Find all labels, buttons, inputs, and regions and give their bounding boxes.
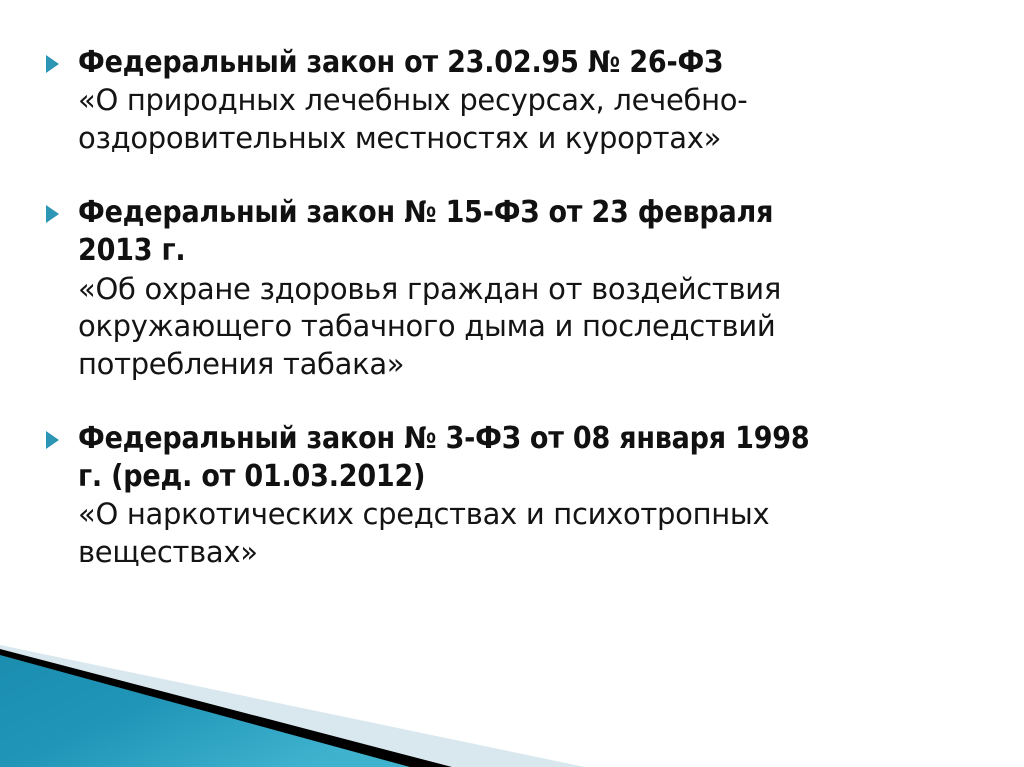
law-title-line: «О наркотических средствах и психотропны…	[78, 496, 984, 534]
law-title-line: оздоровительных местностях и курортах»	[78, 120, 984, 158]
black-band	[0, 649, 452, 767]
law-title-line: веществах»	[78, 534, 984, 572]
list-item: Федеральный закон № 15-ФЗ от 23 февраля …	[40, 194, 984, 384]
teal-band	[0, 655, 410, 767]
law-title-line: окружающего табачного дыма и последствий	[78, 308, 984, 346]
triangle-right-bullet-icon	[46, 55, 59, 73]
law-title-line: «Об охране здоровья граждан от воздейств…	[78, 271, 984, 309]
list-item: Федеральный закон от 23.02.95 № 26-ФЗ «О…	[40, 44, 984, 158]
law-heading-line: 2013 г.	[78, 232, 984, 270]
light-blue-band	[0, 645, 585, 767]
law-heading: Федеральный закон от 23.02.95 № 26-ФЗ	[78, 44, 984, 82]
list-item: Федеральный закон № 3-ФЗ от 08 января 19…	[40, 420, 984, 572]
law-heading-line: Федеральный закон № 3-ФЗ от 08 января 19…	[78, 420, 984, 458]
law-heading-line: г. (ред. от 01.03.2012)	[78, 458, 984, 496]
triangle-right-bullet-icon	[46, 431, 59, 449]
law-title-line: потребления табака»	[78, 346, 984, 384]
slide-body: Федеральный закон от 23.02.95 № 26-ФЗ «О…	[0, 0, 1024, 572]
bottom-left-diagonal-bands	[0, 637, 1024, 767]
law-heading-line: Федеральный закон № 15-ФЗ от 23 февраля	[78, 194, 984, 232]
law-title-line: «О природных лечебных ресурсах, лечебно-	[78, 82, 984, 120]
presentation-slide: Федеральный закон от 23.02.95 № 26-ФЗ «О…	[0, 0, 1024, 767]
triangle-right-bullet-icon	[46, 205, 59, 223]
